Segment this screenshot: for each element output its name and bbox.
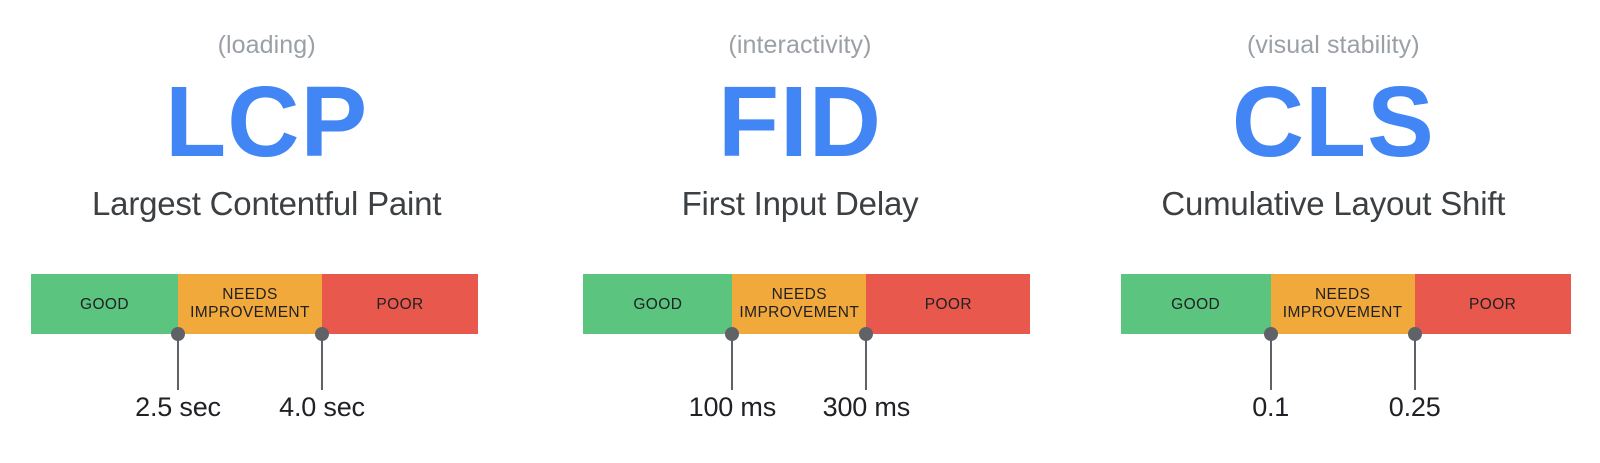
rating-segment-needs-improvement: NEEDSIMPROVEMENT (1271, 274, 1415, 334)
threshold-value-label: 0.1 (1252, 390, 1289, 424)
rating-segment-needs-improvement: NEEDSIMPROVEMENT (732, 274, 866, 334)
threshold-bar: GOOD NEEDSIMPROVEMENT POOR (583, 274, 1030, 334)
tick-line (1414, 334, 1416, 390)
tick-line (731, 334, 733, 390)
rating-label-needs-improvement: NEEDSIMPROVEMENT (190, 286, 310, 322)
tick-line (1270, 334, 1272, 390)
rating-segment-good: GOOD (583, 274, 732, 334)
metric-acronym: LCP (165, 70, 368, 174)
threshold-bar: GOOD NEEDSIMPROVEMENT POOR (31, 274, 478, 334)
rating-segment-poor: POOR (322, 274, 478, 334)
metric-full-name: First Input Delay (682, 184, 919, 224)
rating-label-poor: POOR (1469, 296, 1516, 313)
rating-label-needs-line1: NEEDS (772, 286, 827, 303)
rating-label-needs-improvement: NEEDSIMPROVEMENT (739, 286, 859, 322)
tick-line (865, 334, 867, 390)
rating-label-good: GOOD (1171, 296, 1220, 313)
tick-dot-icon (859, 327, 873, 341)
threshold-bar: GOOD NEEDSIMPROVEMENT POOR (1121, 274, 1571, 334)
rating-segment-needs-improvement: NEEDSIMPROVEMENT (178, 274, 322, 334)
metric-panel-fid: (interactivity) FID First Input Delay GO… (533, 0, 1066, 463)
metric-panel-cls: (visual stability) CLS Cumulative Layout… (1067, 0, 1600, 463)
tick-dot-icon (171, 327, 185, 341)
tick-line (177, 334, 179, 390)
metric-acronym: FID (718, 70, 882, 174)
tick-dot-icon (725, 327, 739, 341)
rating-segment-good: GOOD (31, 274, 178, 334)
rating-label-needs-improvement: NEEDSIMPROVEMENT (1283, 286, 1403, 322)
threshold-bar-area: GOOD NEEDSIMPROVEMENT POOR 2.5 sec (0, 274, 533, 463)
rating-segment-good: GOOD (1121, 274, 1271, 334)
rating-segment-poor: POOR (866, 274, 1030, 334)
threshold-value-label: 2.5 sec (135, 390, 221, 424)
metric-panels: (loading) LCP Largest Contentful Paint G… (0, 0, 1600, 463)
tick-dot-icon (1408, 327, 1422, 341)
threshold-value-label: 100 ms (689, 390, 776, 424)
metric-category-label: (interactivity) (728, 30, 871, 60)
core-web-vitals-infographic: (loading) LCP Largest Contentful Paint G… (0, 0, 1600, 463)
metric-category-label: (visual stability) (1247, 30, 1420, 60)
metric-full-name: Cumulative Layout Shift (1161, 184, 1505, 224)
threshold-value-label: 4.0 sec (279, 390, 365, 424)
metric-category-label: (loading) (218, 30, 316, 60)
rating-label-needs-line1: NEEDS (222, 286, 277, 303)
rating-label-poor: POOR (925, 296, 972, 313)
threshold-value-label: 300 ms (823, 390, 910, 424)
rating-label-needs-line2: IMPROVEMENT (739, 304, 859, 321)
tick-line (321, 334, 323, 390)
tick-dot-icon (1264, 327, 1278, 341)
rating-label-poor: POOR (376, 296, 423, 313)
tick-dot-icon (315, 327, 329, 341)
threshold-bar-area: GOOD NEEDSIMPROVEMENT POOR 100 ms (533, 274, 1066, 463)
rating-label-good: GOOD (80, 296, 129, 313)
metric-panel-lcp: (loading) LCP Largest Contentful Paint G… (0, 0, 533, 463)
rating-segment-poor: POOR (1415, 274, 1571, 334)
rating-label-needs-line2: IMPROVEMENT (190, 304, 310, 321)
rating-label-needs-line2: IMPROVEMENT (1283, 304, 1403, 321)
metric-acronym: CLS (1232, 70, 1435, 174)
rating-label-good: GOOD (633, 296, 682, 313)
metric-full-name: Largest Contentful Paint (92, 184, 441, 224)
rating-label-needs-line1: NEEDS (1315, 286, 1370, 303)
threshold-value-label: 0.25 (1389, 390, 1441, 424)
threshold-bar-area: GOOD NEEDSIMPROVEMENT POOR 0.1 (1067, 274, 1600, 463)
